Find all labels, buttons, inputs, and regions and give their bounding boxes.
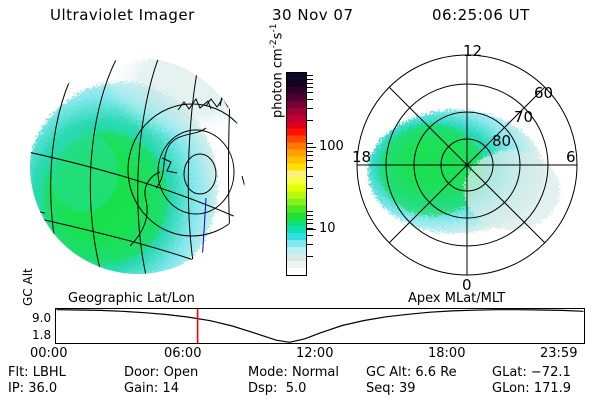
colorbar-minor-tick bbox=[307, 120, 313, 121]
geographic-image-panel bbox=[10, 40, 262, 292]
status-flt-label: Flt: bbox=[8, 365, 29, 380]
status-door-label: Door: bbox=[124, 365, 159, 380]
colorbar-minor-tick bbox=[307, 151, 313, 152]
colorbar-unit-main: photon cm bbox=[270, 48, 285, 118]
status-ip-label: IP: bbox=[8, 381, 24, 396]
geographic-panel-caption: Geographic Lat/Lon bbox=[68, 292, 195, 305]
colorbar-minor-tick bbox=[307, 75, 313, 76]
mlt-polar-dial: 12 18 6 0 60 70 80 bbox=[352, 42, 584, 292]
status-seq-label: Seq: bbox=[366, 381, 395, 396]
colorbar bbox=[286, 72, 307, 276]
mlt-label-6: 6 bbox=[566, 148, 576, 166]
colorbar-minor-tick bbox=[307, 99, 313, 100]
time-tick-1200: 12:00 bbox=[296, 347, 333, 360]
status-flt: Flt: LBHL bbox=[8, 366, 66, 379]
colorbar-minor-tick bbox=[307, 143, 313, 144]
colorbar-minor-tick bbox=[307, 87, 313, 88]
colorbar-tick-10 bbox=[307, 229, 316, 230]
time-tick-0000: 00:00 bbox=[30, 347, 67, 360]
status-ip: IP: 36.0 bbox=[8, 382, 57, 395]
status-mode: Mode: Normal bbox=[248, 366, 339, 379]
geographic-globe bbox=[10, 40, 262, 292]
colorbar-minor-tick bbox=[307, 108, 313, 109]
colorbar-minor-tick bbox=[307, 211, 313, 212]
status-flt-value: LBHL bbox=[33, 365, 66, 380]
mlt-label-18: 18 bbox=[352, 148, 371, 166]
colorbar-axis-title: photon cm-2s-1 bbox=[270, 24, 284, 118]
colorbar-minor-tick bbox=[307, 83, 313, 84]
colorbar-minor-tick bbox=[307, 228, 313, 229]
status-glat: GLat: −72.1 bbox=[492, 366, 571, 379]
gc-alt-axis-label: GC Alt bbox=[22, 268, 34, 306]
colorbar-label-10: 10 bbox=[319, 222, 336, 235]
instrument-title: Ultraviolet Imager bbox=[50, 8, 195, 23]
colorbar-minor-tick bbox=[307, 160, 313, 161]
colorbar-minor-tick bbox=[307, 188, 313, 189]
status-seq: Seq: 39 bbox=[366, 382, 416, 395]
colorbar-unit-s: s bbox=[270, 33, 285, 40]
colorbar-minor-tick bbox=[307, 155, 313, 156]
uvi-display: Ultraviolet Imager 30 Nov 07 06:25:06 UT bbox=[0, 0, 600, 400]
status-mode-value: Normal bbox=[292, 365, 339, 380]
colorbar-minor-tick bbox=[307, 235, 313, 236]
status-door-value: Open bbox=[164, 365, 199, 380]
colorbar-minor-tick bbox=[307, 244, 313, 245]
apex-mlt-panel: 12 18 6 0 60 70 80 bbox=[352, 42, 584, 292]
colorbar-minor-tick bbox=[307, 256, 313, 257]
status-glat-label: GLat: bbox=[492, 365, 527, 380]
colorbar-unit-exp1: -2 bbox=[269, 39, 279, 48]
status-dsp: Dsp: 5.0 bbox=[248, 382, 306, 395]
time-tick-0600: 06:00 bbox=[164, 347, 201, 360]
mlat-label-70: 70 bbox=[514, 108, 533, 126]
colorbar-label-100: 100 bbox=[319, 140, 344, 153]
orbit-altitude-line bbox=[57, 310, 584, 343]
status-gain-label: Gain: bbox=[124, 381, 158, 396]
status-gc-alt-value: 6.6 Re bbox=[415, 365, 456, 380]
status-door: Door: Open bbox=[124, 366, 198, 379]
status-gc-alt-label: GC Alt: bbox=[366, 365, 411, 380]
aurora-emission-geographic bbox=[26, 58, 238, 290]
mlat-label-60: 60 bbox=[534, 84, 553, 102]
time-tick-1800: 18:00 bbox=[428, 347, 465, 360]
status-seq-value: 39 bbox=[399, 381, 416, 396]
status-dsp-value: 5.0 bbox=[286, 381, 307, 396]
gc-alt-tick-low: 1.8 bbox=[32, 329, 51, 341]
status-gain: Gain: 14 bbox=[124, 382, 179, 395]
colorbar-unit-exp2: -1 bbox=[269, 24, 279, 33]
apex-panel-caption: Apex MLat/MLT bbox=[408, 292, 505, 305]
status-glon-label: GLon: bbox=[492, 381, 530, 396]
colorbar-minor-tick bbox=[307, 215, 313, 216]
colorbar-minor-tick bbox=[307, 92, 313, 93]
observation-time: 06:25:06 UT bbox=[432, 8, 530, 23]
mlat-label-80: 80 bbox=[492, 132, 511, 150]
colorbar-minor-tick bbox=[307, 147, 313, 148]
colorbar-minor-tick bbox=[307, 79, 313, 80]
observation-date: 30 Nov 07 bbox=[272, 8, 354, 23]
mlt-label-12: 12 bbox=[463, 42, 482, 60]
status-gc-alt: GC Alt: 6.6 Re bbox=[366, 366, 457, 379]
status-gain-value: 14 bbox=[162, 381, 179, 396]
time-tick-2359: 23:59 bbox=[540, 347, 577, 360]
colorbar-minor-tick bbox=[307, 219, 313, 220]
colorbar-minor-tick bbox=[307, 223, 313, 224]
status-glon-value: 171.9 bbox=[534, 381, 571, 396]
colorbar-minor-tick bbox=[307, 176, 313, 177]
orbit-altitude-chart[interactable] bbox=[55, 308, 585, 344]
status-glon: GLon: 171.9 bbox=[492, 382, 571, 395]
status-ip-value: 36.0 bbox=[28, 381, 57, 396]
status-dsp-label: Dsp: bbox=[248, 381, 277, 396]
aurora-emission-apex bbox=[368, 110, 560, 234]
status-mode-label: Mode: bbox=[248, 365, 288, 380]
colorbar-minor-tick bbox=[307, 167, 313, 168]
gc-alt-tick-high: 9.0 bbox=[32, 312, 51, 324]
status-glat-value: −72.1 bbox=[531, 365, 571, 380]
colorbar-gradient bbox=[287, 73, 306, 275]
